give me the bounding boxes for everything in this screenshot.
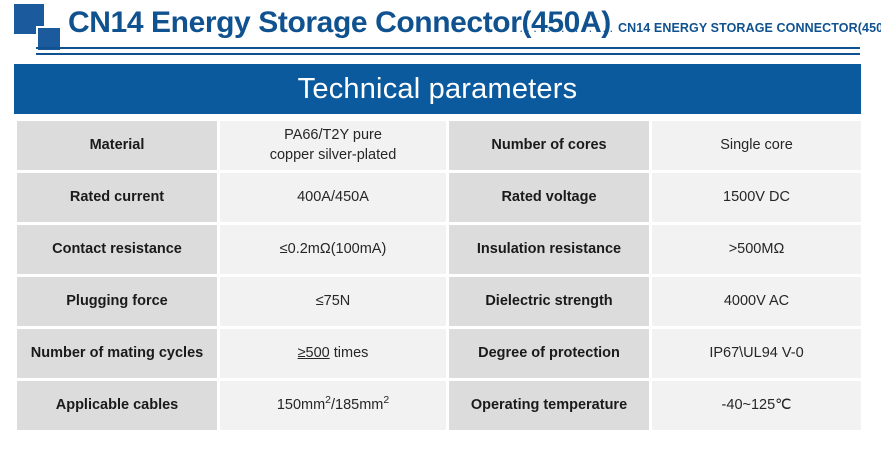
param-label-degree-of-protection: Degree of protection <box>449 329 649 378</box>
section-banner-title: Technical parameters <box>298 73 578 106</box>
header-divider <box>0 47 881 61</box>
param-label-insulation-resistance: Insulation resistance <box>449 225 649 274</box>
param-value-material: PA66/T2Y pure copper silver-plated <box>220 121 446 170</box>
page-header: CN14 Energy Storage Connector(450A) ····… <box>0 0 881 52</box>
param-label-rated-current: Rated current <box>17 173 217 222</box>
table-row: Applicable cables 150mm2/185mm2 Operatin… <box>17 381 861 430</box>
param-label-rated-voltage: Rated voltage <box>449 173 649 222</box>
header-divider-line-bottom <box>36 53 860 55</box>
header-divider-line-top <box>36 47 860 49</box>
param-label-operating-temperature: Operating temperature <box>449 381 649 430</box>
param-value-contact-resistance: ≤0.2mΩ(100mA) <box>220 225 446 274</box>
page-subtitle: CN14 ENERGY STORAGE CONNECTOR(450A) <box>618 21 881 35</box>
param-label-dielectric-strength: Dielectric strength <box>449 277 649 326</box>
param-label-number-of-mating-cycles: Number of mating cycles <box>17 329 217 378</box>
param-value-degree-of-protection: IP67\UL94 V-0 <box>652 329 861 378</box>
table-row: Number of mating cycles ≥500 times Degre… <box>17 329 861 378</box>
param-value-number-of-mating-cycles: ≥500 times <box>220 329 446 378</box>
param-label-contact-resistance: Contact resistance <box>17 225 217 274</box>
param-value-rated-voltage: 1500V DC <box>652 173 861 222</box>
param-label-number-of-cores: Number of cores <box>449 121 649 170</box>
param-value-operating-temperature: -40~125℃ <box>652 381 861 430</box>
table-row: Material PA66/T2Y pure copper silver-pla… <box>17 121 861 170</box>
param-value-number-of-cores: Single core <box>652 121 861 170</box>
table-row: Rated current 400A/450A Rated voltage 15… <box>17 173 861 222</box>
param-value-applicable-cables: 150mm2/185mm2 <box>220 381 446 430</box>
section-banner: Technical parameters <box>14 64 861 114</box>
param-value-mating-cycles-count: ≥500 <box>298 345 330 361</box>
param-value-dielectric-strength: 4000V AC <box>652 277 861 326</box>
param-label-material: Material <box>17 121 217 170</box>
param-value-insulation-resistance: >500MΩ <box>652 225 861 274</box>
cable-size-a: 150mm <box>277 397 325 413</box>
dotted-separator: ·············· <box>519 24 616 37</box>
company-logo <box>14 4 70 50</box>
param-value-material-line2: copper silver-plated <box>224 146 442 166</box>
cable-size-separator: /185mm <box>331 397 383 413</box>
param-value-mating-cycles-unit: times <box>330 345 369 361</box>
param-label-applicable-cables: Applicable cables <box>17 381 217 430</box>
param-value-plugging-force: ≤75N <box>220 277 446 326</box>
cable-size-b-sup: 2 <box>383 395 389 406</box>
table-row: Plugging force ≤75N Dielectric strength … <box>17 277 861 326</box>
param-label-plugging-force: Plugging force <box>17 277 217 326</box>
param-value-rated-current: 400A/450A <box>220 173 446 222</box>
technical-parameters-table: Material PA66/T2Y pure copper silver-pla… <box>14 118 864 433</box>
param-value-material-line1: PA66/T2Y pure <box>224 126 442 146</box>
table-row: Contact resistance ≤0.2mΩ(100mA) Insulat… <box>17 225 861 274</box>
